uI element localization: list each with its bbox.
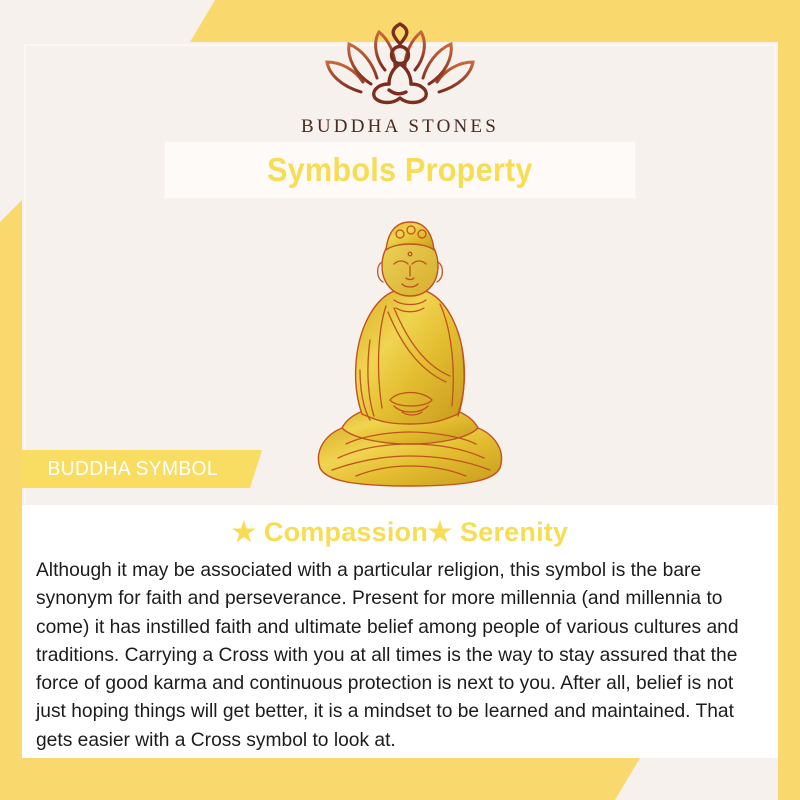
content-panel: ★ Compassion★ Serenity Although it may b…	[22, 505, 778, 758]
frame-bottom-bar	[0, 758, 800, 800]
poster-root: BUDDHA STONES Symbols Property	[0, 0, 800, 800]
seated-golden-buddha-icon	[290, 200, 530, 500]
lotus-meditation-figure-icon	[315, 22, 485, 112]
buddha-illustration	[290, 200, 530, 500]
frame-left-bar	[0, 200, 22, 800]
symbol-tag-label: BUDDHA SYMBOL	[48, 458, 218, 481]
page-title: Symbols Property	[267, 151, 533, 189]
content-paragraph: Although it may be associated with a par…	[36, 556, 755, 754]
brand-logo-block: BUDDHA STONES	[0, 22, 800, 138]
title-banner: Symbols Property	[165, 142, 635, 198]
symbol-tag-banner: BUDDHA SYMBOL	[22, 450, 262, 488]
content-headline: ★ Compassion★ Serenity	[22, 517, 778, 548]
brand-name: BUDDHA STONES	[301, 116, 499, 138]
